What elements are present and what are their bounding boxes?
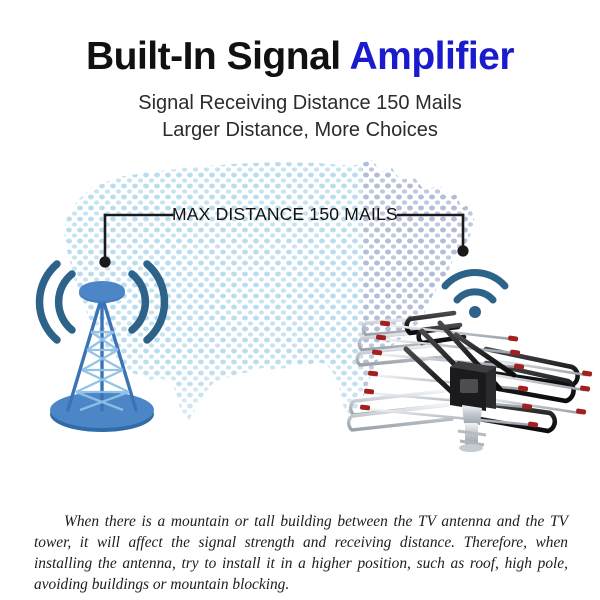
- antenna-amplifier-housing: [450, 361, 496, 411]
- subtitle-line-1: Signal Receiving Distance 150 Mails: [0, 92, 600, 115]
- page-title: Built-In Signal Amplifier: [0, 36, 600, 79]
- max-distance-label: MAX DISTANCE 150 MAILS: [172, 204, 396, 225]
- antenna-mast-mount: [458, 405, 486, 452]
- headline-main-text: Built-In Signal: [86, 35, 350, 78]
- subtitle-line-2: Larger Distance, More Choices: [0, 119, 600, 142]
- tower-signal-waves-right: [132, 264, 165, 340]
- outdoor-tv-antenna: [336, 305, 598, 455]
- description-paragraph: When there is a mountain or tall buildin…: [34, 511, 568, 595]
- tower-signal-waves-left: [39, 264, 72, 340]
- infographic-page: Built-In Signal Amplifier Signal Receivi…: [0, 0, 600, 600]
- callout-endpoint-right: [457, 245, 468, 256]
- broadcast-tower: [28, 252, 188, 444]
- headline-accent-text: Amplifier: [350, 35, 515, 78]
